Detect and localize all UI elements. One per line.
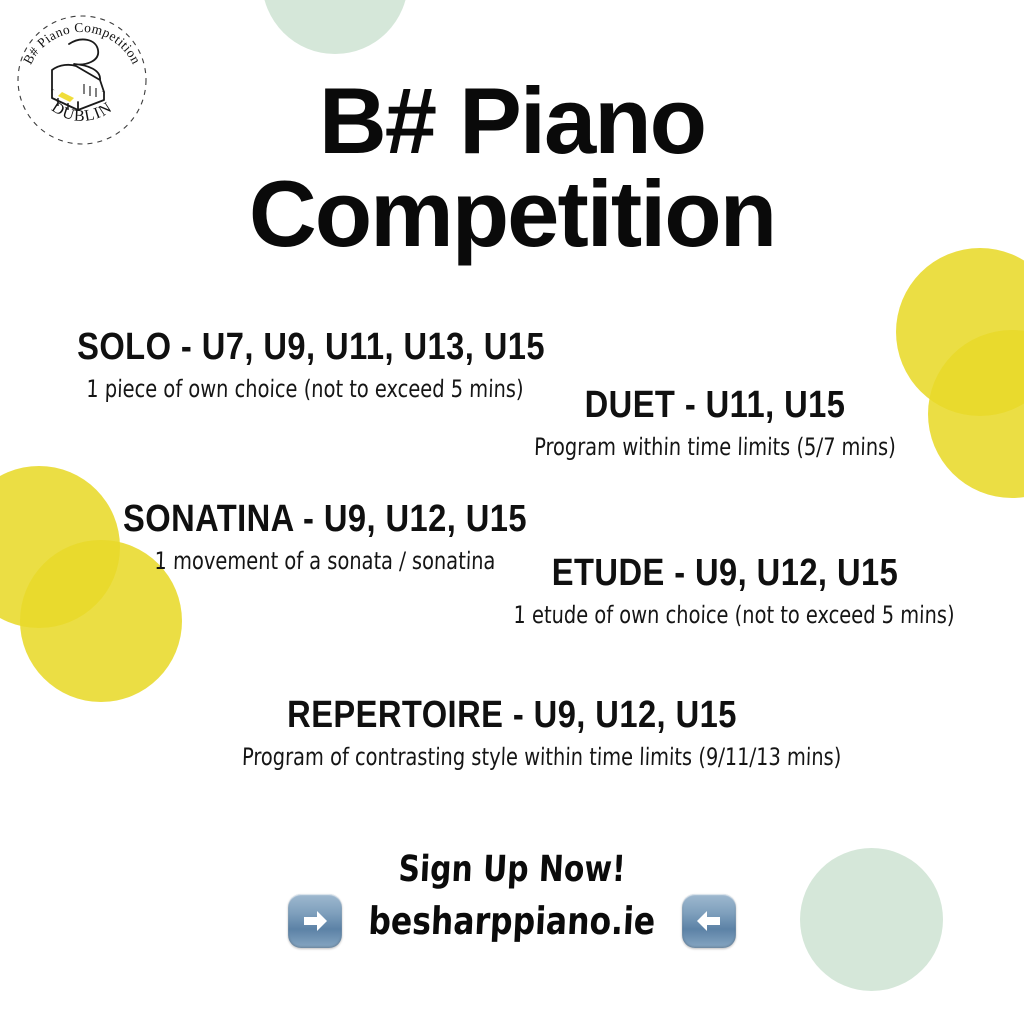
signup-url-text[interactable]: besharppiano.ie — [358, 902, 665, 940]
category-repertoire-heading: REPERTOIRE - U9, U12, U15 — [254, 696, 770, 736]
page-title: B# Piano Competition — [0, 74, 1024, 260]
category-duet-heading: DUET - U11, U15 — [513, 386, 917, 426]
category-etude: ETUDE - U9, U12, U15 1 etude of own choi… — [490, 554, 960, 630]
category-sonatina-subtext: 1 movement of a sonata / sonatina — [104, 547, 546, 576]
signup-heading: Sign Up Now! — [40, 852, 984, 888]
category-repertoire: REPERTOIRE - U9, U12, U15 Program of con… — [212, 696, 812, 772]
category-duet: DUET - U11, U15 Program within time limi… — [480, 386, 950, 462]
category-etude-subtext: 1 etude of own choice (not to exceed 5 m… — [513, 601, 937, 630]
poster-canvas: B# Piano Competition DUBLIN B# Pian — [0, 0, 1024, 1024]
decor-circle-mint-top — [262, 0, 408, 54]
category-etude-heading: ETUDE - U9, U12, U15 — [523, 554, 927, 594]
title-line-1: B# Piano — [0, 74, 1024, 167]
category-solo-subtext: 1 piece of own choice (not to exceed 5 m… — [66, 375, 544, 404]
signup-section: Sign Up Now! besharppiano.ie — [0, 852, 1024, 948]
arrow-right-icon[interactable] — [288, 894, 342, 948]
category-duet-subtext: Program within time limits (5/7 mins) — [503, 433, 927, 462]
title-line-2: Competition — [0, 167, 1024, 260]
arrow-left-icon[interactable] — [682, 894, 736, 948]
signup-url-row: besharppiano.ie — [0, 894, 1024, 948]
category-solo-heading: SOLO - U7, U9, U11, U13, U15 — [77, 328, 533, 368]
category-repertoire-subtext: Program of contrasting style within time… — [242, 743, 783, 772]
category-sonatina-heading: SONATINA - U9, U12, U15 — [114, 500, 535, 540]
